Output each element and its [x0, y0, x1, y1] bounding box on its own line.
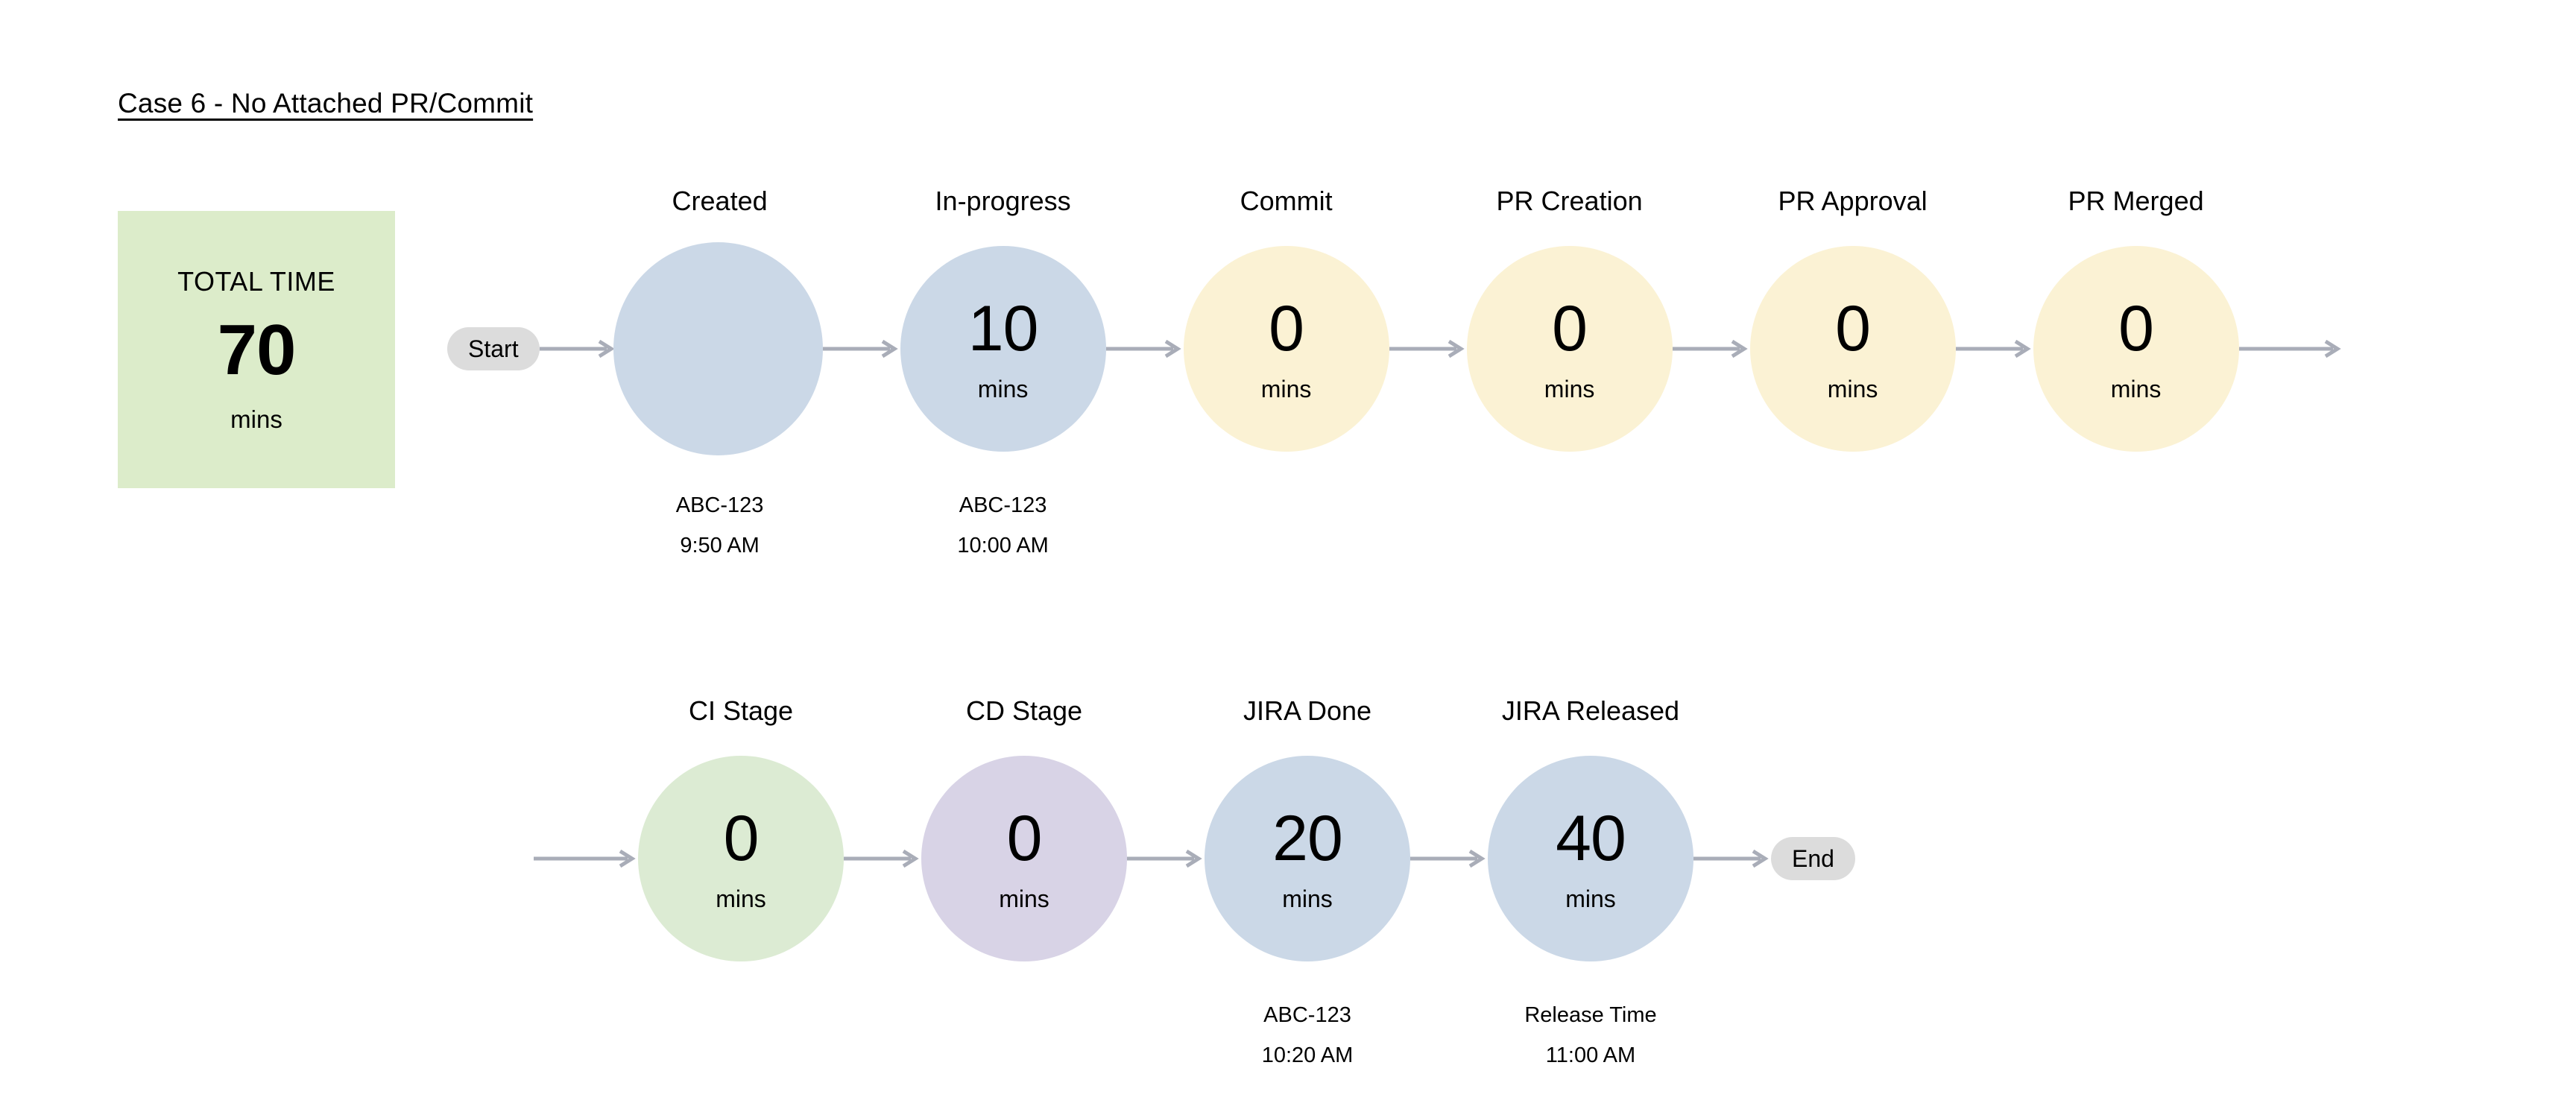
connector-arrow: [1127, 850, 1205, 868]
node-unit: mins: [1565, 887, 1616, 911]
node-label: Created: [672, 188, 768, 215]
start-pill[interactable]: Start: [447, 327, 540, 370]
caption-line-1: ABC-123: [676, 486, 764, 526]
node-label: JIRA Done: [1243, 698, 1371, 724]
connector-arrow: [823, 340, 900, 358]
connector-arrow: [1410, 850, 1488, 868]
node-created[interactable]: Created ABC-123 9:50 AM: [617, 246, 823, 452]
connector-arrow-wrap-out: [2239, 340, 2343, 358]
connector-arrow: [1389, 340, 1467, 358]
node-circle[interactable]: 0 mins: [921, 756, 1127, 961]
connector-arrow: [1106, 340, 1184, 358]
caption-line-1: ABC-123: [957, 486, 1049, 526]
node-unit: mins: [716, 887, 766, 911]
node-unit: mins: [1282, 887, 1333, 911]
node-label: Commit: [1240, 188, 1333, 215]
node-cd-stage[interactable]: CD Stage 0 mins: [921, 756, 1127, 961]
node-unit: mins: [1261, 377, 1312, 401]
node-circle[interactable]: 0 mins: [1467, 246, 1673, 452]
node-circle[interactable]: 0 mins: [1184, 246, 1389, 452]
node-unit: mins: [999, 887, 1049, 911]
node-jira-released[interactable]: JIRA Released 40 mins Release Time 11:00…: [1488, 756, 1693, 961]
node-caption: Release Time 11:00 AM: [1524, 996, 1656, 1075]
node-value: 0: [1552, 297, 1587, 361]
node-caption: ABC-123 10:20 AM: [1262, 996, 1354, 1075]
flow-row-2: CI Stage 0 mins CD Stage 0 mins JIRA Don…: [534, 762, 1855, 956]
connector-arrow: [1673, 340, 1750, 358]
node-circle[interactable]: 0 mins: [638, 756, 844, 961]
node-value: 0: [1007, 806, 1042, 871]
node-caption: ABC-123 9:50 AM: [676, 486, 764, 566]
node-label: CI Stage: [689, 698, 793, 724]
caption-line-1: ABC-123: [1262, 996, 1354, 1036]
connector-arrow: [1693, 850, 1771, 868]
total-time-unit: mins: [230, 407, 282, 432]
flow-row-1: Start Created ABC-123 9:50 AM In-progres…: [447, 252, 2343, 446]
node-circle[interactable]: 0 mins: [2033, 246, 2239, 452]
node-value: 0: [2118, 297, 2153, 361]
total-time-value: 70: [218, 315, 296, 386]
node-label: CD Stage: [966, 698, 1082, 724]
node-in-progress[interactable]: In-progress 10 mins ABC-123 10:00 AM: [900, 246, 1106, 452]
caption-line-2: 10:00 AM: [957, 526, 1049, 566]
caption-line-2: 10:20 AM: [1262, 1036, 1354, 1076]
node-circle[interactable]: [613, 242, 823, 455]
total-time-card: TOTAL TIME 70 mins: [118, 211, 395, 488]
total-time-label: TOTAL TIME: [177, 268, 335, 295]
page-title: Case 6 - No Attached PR/Commit: [118, 88, 533, 119]
node-pr-approval[interactable]: PR Approval 0 mins: [1750, 246, 1956, 452]
end-pill[interactable]: End: [1771, 837, 1855, 880]
node-label: PR Creation: [1497, 188, 1643, 215]
node-value: 0: [724, 806, 759, 871]
node-jira-done[interactable]: JIRA Done 20 mins ABC-123 10:20 AM: [1205, 756, 1410, 961]
node-unit: mins: [978, 377, 1029, 401]
node-circle[interactable]: 0 mins: [1750, 246, 1956, 452]
caption-line-2: 9:50 AM: [676, 526, 764, 566]
caption-line-1: Release Time: [1524, 996, 1656, 1036]
connector-arrow-wrap-in: [534, 850, 638, 868]
connector-arrow: [1956, 340, 2033, 358]
node-value: 40: [1556, 806, 1626, 871]
node-unit: mins: [2111, 377, 2162, 401]
node-commit[interactable]: Commit 0 mins: [1184, 246, 1389, 452]
node-caption: ABC-123 10:00 AM: [957, 486, 1049, 566]
node-value: 20: [1272, 806, 1342, 871]
node-ci-stage[interactable]: CI Stage 0 mins: [638, 756, 844, 961]
connector-arrow: [844, 850, 921, 868]
node-value: 10: [968, 297, 1038, 361]
connector-arrow: [540, 340, 617, 358]
caption-line-2: 11:00 AM: [1524, 1036, 1656, 1076]
node-value: 0: [1835, 297, 1870, 361]
node-label: PR Approval: [1778, 188, 1928, 215]
node-pr-creation[interactable]: PR Creation 0 mins: [1467, 246, 1673, 452]
node-pr-merged[interactable]: PR Merged 0 mins: [2033, 246, 2239, 452]
node-label: In-progress: [935, 188, 1071, 215]
node-label: PR Merged: [2068, 188, 2204, 215]
node-circle[interactable]: 20 mins: [1205, 756, 1410, 961]
node-circle[interactable]: 10 mins: [900, 246, 1106, 452]
node-unit: mins: [1544, 377, 1595, 401]
node-value: 0: [1269, 297, 1304, 361]
node-label: JIRA Released: [1502, 698, 1679, 724]
node-unit: mins: [1828, 377, 1878, 401]
node-circle[interactable]: 40 mins: [1488, 756, 1693, 961]
